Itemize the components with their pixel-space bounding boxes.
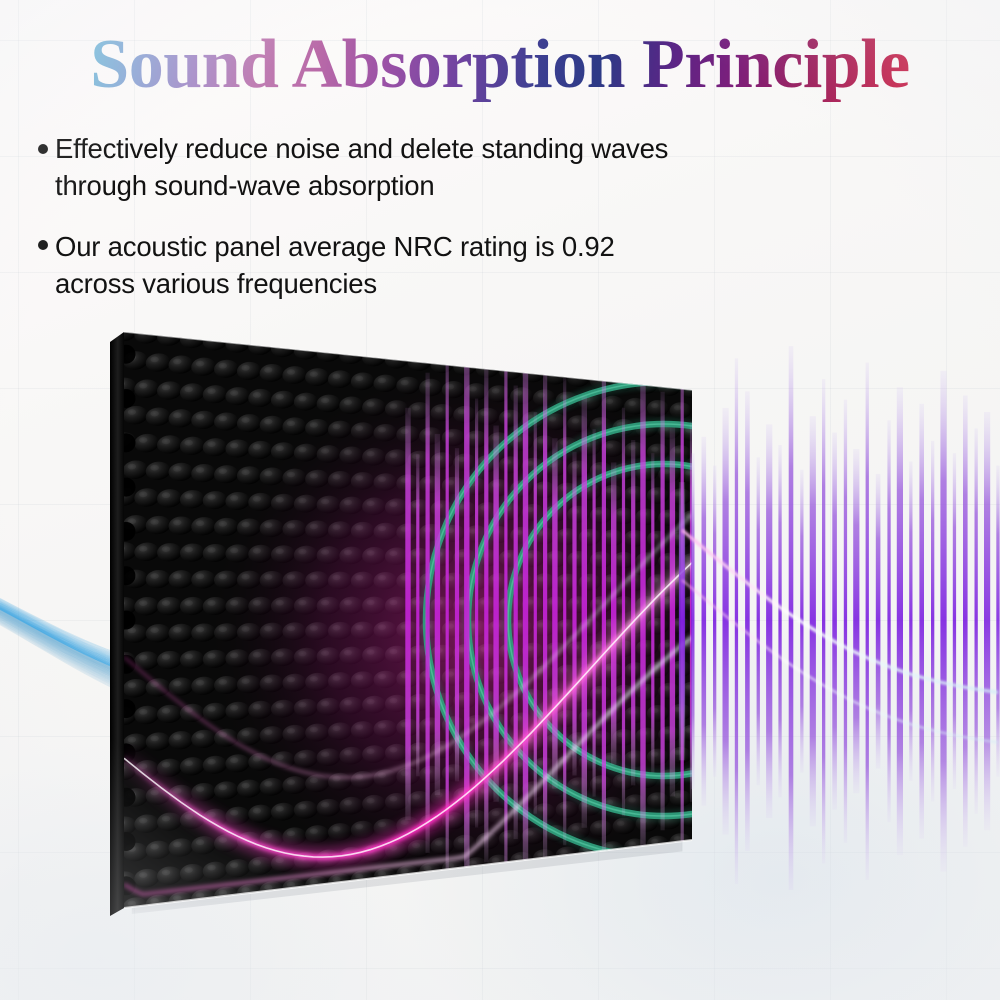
bullet-item-text: Effectively reduce noise and delete stan… [55, 130, 668, 204]
bullet-dot-icon [38, 240, 48, 250]
page-title: Sound Absorption Principle [0, 24, 1000, 106]
list-item: Our acoustic panel average NRC rating is… [38, 228, 828, 302]
feature-bullet-list: Effectively reduce noise and delete stan… [38, 130, 828, 320]
poster-canvas: Sound Absorption Principle Effectively r… [0, 0, 1000, 1000]
spectrum-bars-outside-panel [676, 330, 1000, 890]
panel-left-edge [110, 332, 124, 916]
bullet-line-2: across various frequencies [55, 268, 377, 299]
bullet-line-1: Our acoustic panel average NRC rating is… [55, 231, 615, 262]
bullet-dot-icon [38, 144, 48, 154]
bullet-line-1: Effectively reduce noise and delete stan… [55, 133, 668, 164]
list-item: Effectively reduce noise and delete stan… [38, 130, 828, 204]
bullet-item-text: Our acoustic panel average NRC rating is… [55, 228, 615, 302]
acoustic-panel-illustration [104, 320, 704, 920]
acoustic-foam-panel [104, 320, 704, 920]
bullet-line-2: through sound-wave absorption [55, 170, 434, 201]
